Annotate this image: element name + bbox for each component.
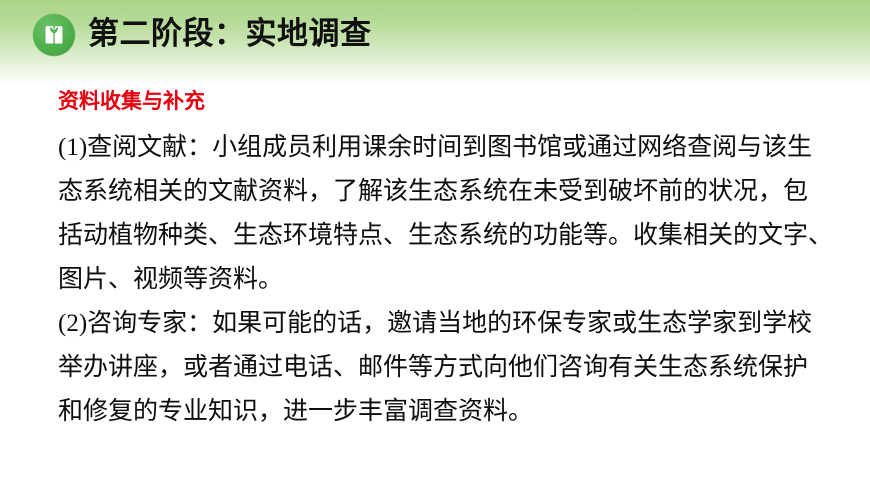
open-book-icon (33, 14, 75, 56)
body-line: (1)查阅文献：小组成员利用课余时间到图书馆或通过网络查阅与该生 (58, 126, 858, 170)
section-subheading: 资料收集与补充 (58, 88, 205, 116)
body-line: 图片、视频等资料。 (58, 258, 858, 302)
slide-root: 第二阶段：实地调查 资料收集与补充 (1)查阅文献：小组成员利用课余时间到图书馆… (0, 0, 870, 489)
body-line: 括动植物种类、生态环境特点、生态系统的功能等。收集相关的文字、 (58, 214, 858, 258)
body-line: 和修复的专业知识，进一步丰富调查资料。 (58, 390, 858, 434)
body-text-block: (1)查阅文献：小组成员利用课余时间到图书馆或通过网络查阅与该生 态系统相关的文… (58, 126, 858, 434)
body-line: 态系统相关的文献资料，了解该生态系统在未受到破坏前的状况，包 (58, 170, 858, 214)
slide-body: 资料收集与补充 (1)查阅文献：小组成员利用课余时间到图书馆或通过网络查阅与该生… (0, 86, 870, 489)
page-title: 第二阶段：实地调查 (88, 14, 372, 54)
body-line: 举办讲座，或者通过电话、邮件等方式向他们咨询有关生态系统保护 (58, 346, 858, 390)
slide-header: 第二阶段：实地调查 (0, 0, 870, 86)
body-line: (2)咨询专家：如果可能的话，邀请当地的环保专家或生态学家到学校 (58, 302, 858, 346)
